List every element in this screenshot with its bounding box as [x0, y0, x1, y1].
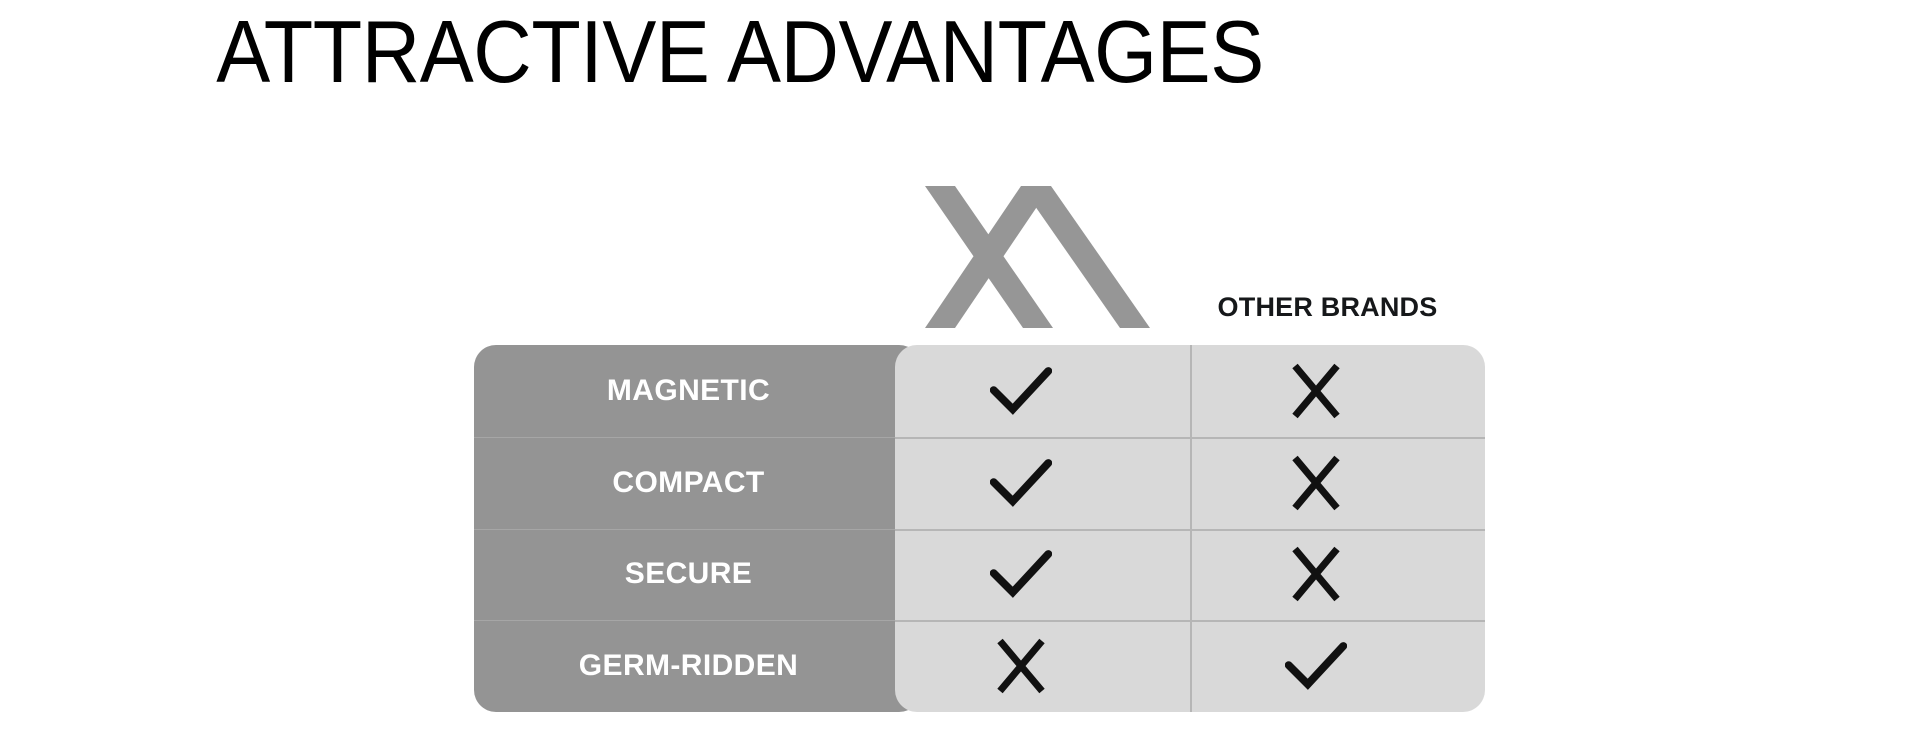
- table-row: MAGNETIC: [474, 345, 921, 437]
- table-row: [895, 437, 1485, 529]
- table-row: [895, 620, 1485, 712]
- table-row: GERM-RIDDEN: [474, 620, 921, 712]
- table-row: [895, 529, 1485, 621]
- check-icon: [1285, 635, 1347, 697]
- cross-icon: [1285, 360, 1347, 422]
- brand-cell: [895, 620, 1190, 712]
- cross-icon: [1285, 543, 1347, 605]
- feature-label: MAGNETIC: [607, 374, 770, 408]
- table-row: [895, 345, 1485, 437]
- brand-cell: [895, 529, 1190, 621]
- feature-label: SECURE: [625, 557, 752, 591]
- check-icon: [990, 360, 1052, 422]
- brand-xa-logo-icon: [925, 186, 1150, 328]
- brand-cell: [895, 437, 1190, 529]
- table-row: SECURE: [474, 529, 921, 621]
- other-brands-cell: [1190, 529, 1485, 621]
- page-title: ATTRACTIVE ADVANTAGES: [59, 8, 1421, 96]
- check-icon: [990, 452, 1052, 514]
- comparison-marks-panel: [895, 345, 1485, 712]
- comparison-table: MAGNETIC COMPACT SECURE GERM-RIDDEN: [474, 345, 1485, 712]
- feature-label-column: MAGNETIC COMPACT SECURE GERM-RIDDEN: [474, 345, 921, 712]
- feature-label: GERM-RIDDEN: [579, 649, 798, 683]
- cross-icon: [1285, 452, 1347, 514]
- other-brands-cell: [1190, 437, 1485, 529]
- cross-icon: [990, 635, 1052, 697]
- other-brands-header: OTHER BRANDS: [1170, 292, 1485, 323]
- brand-cell: [895, 345, 1190, 437]
- check-icon: [990, 543, 1052, 605]
- other-brands-cell: [1190, 620, 1485, 712]
- table-row: COMPACT: [474, 437, 921, 529]
- feature-label: COMPACT: [612, 466, 764, 500]
- other-brands-cell: [1190, 345, 1485, 437]
